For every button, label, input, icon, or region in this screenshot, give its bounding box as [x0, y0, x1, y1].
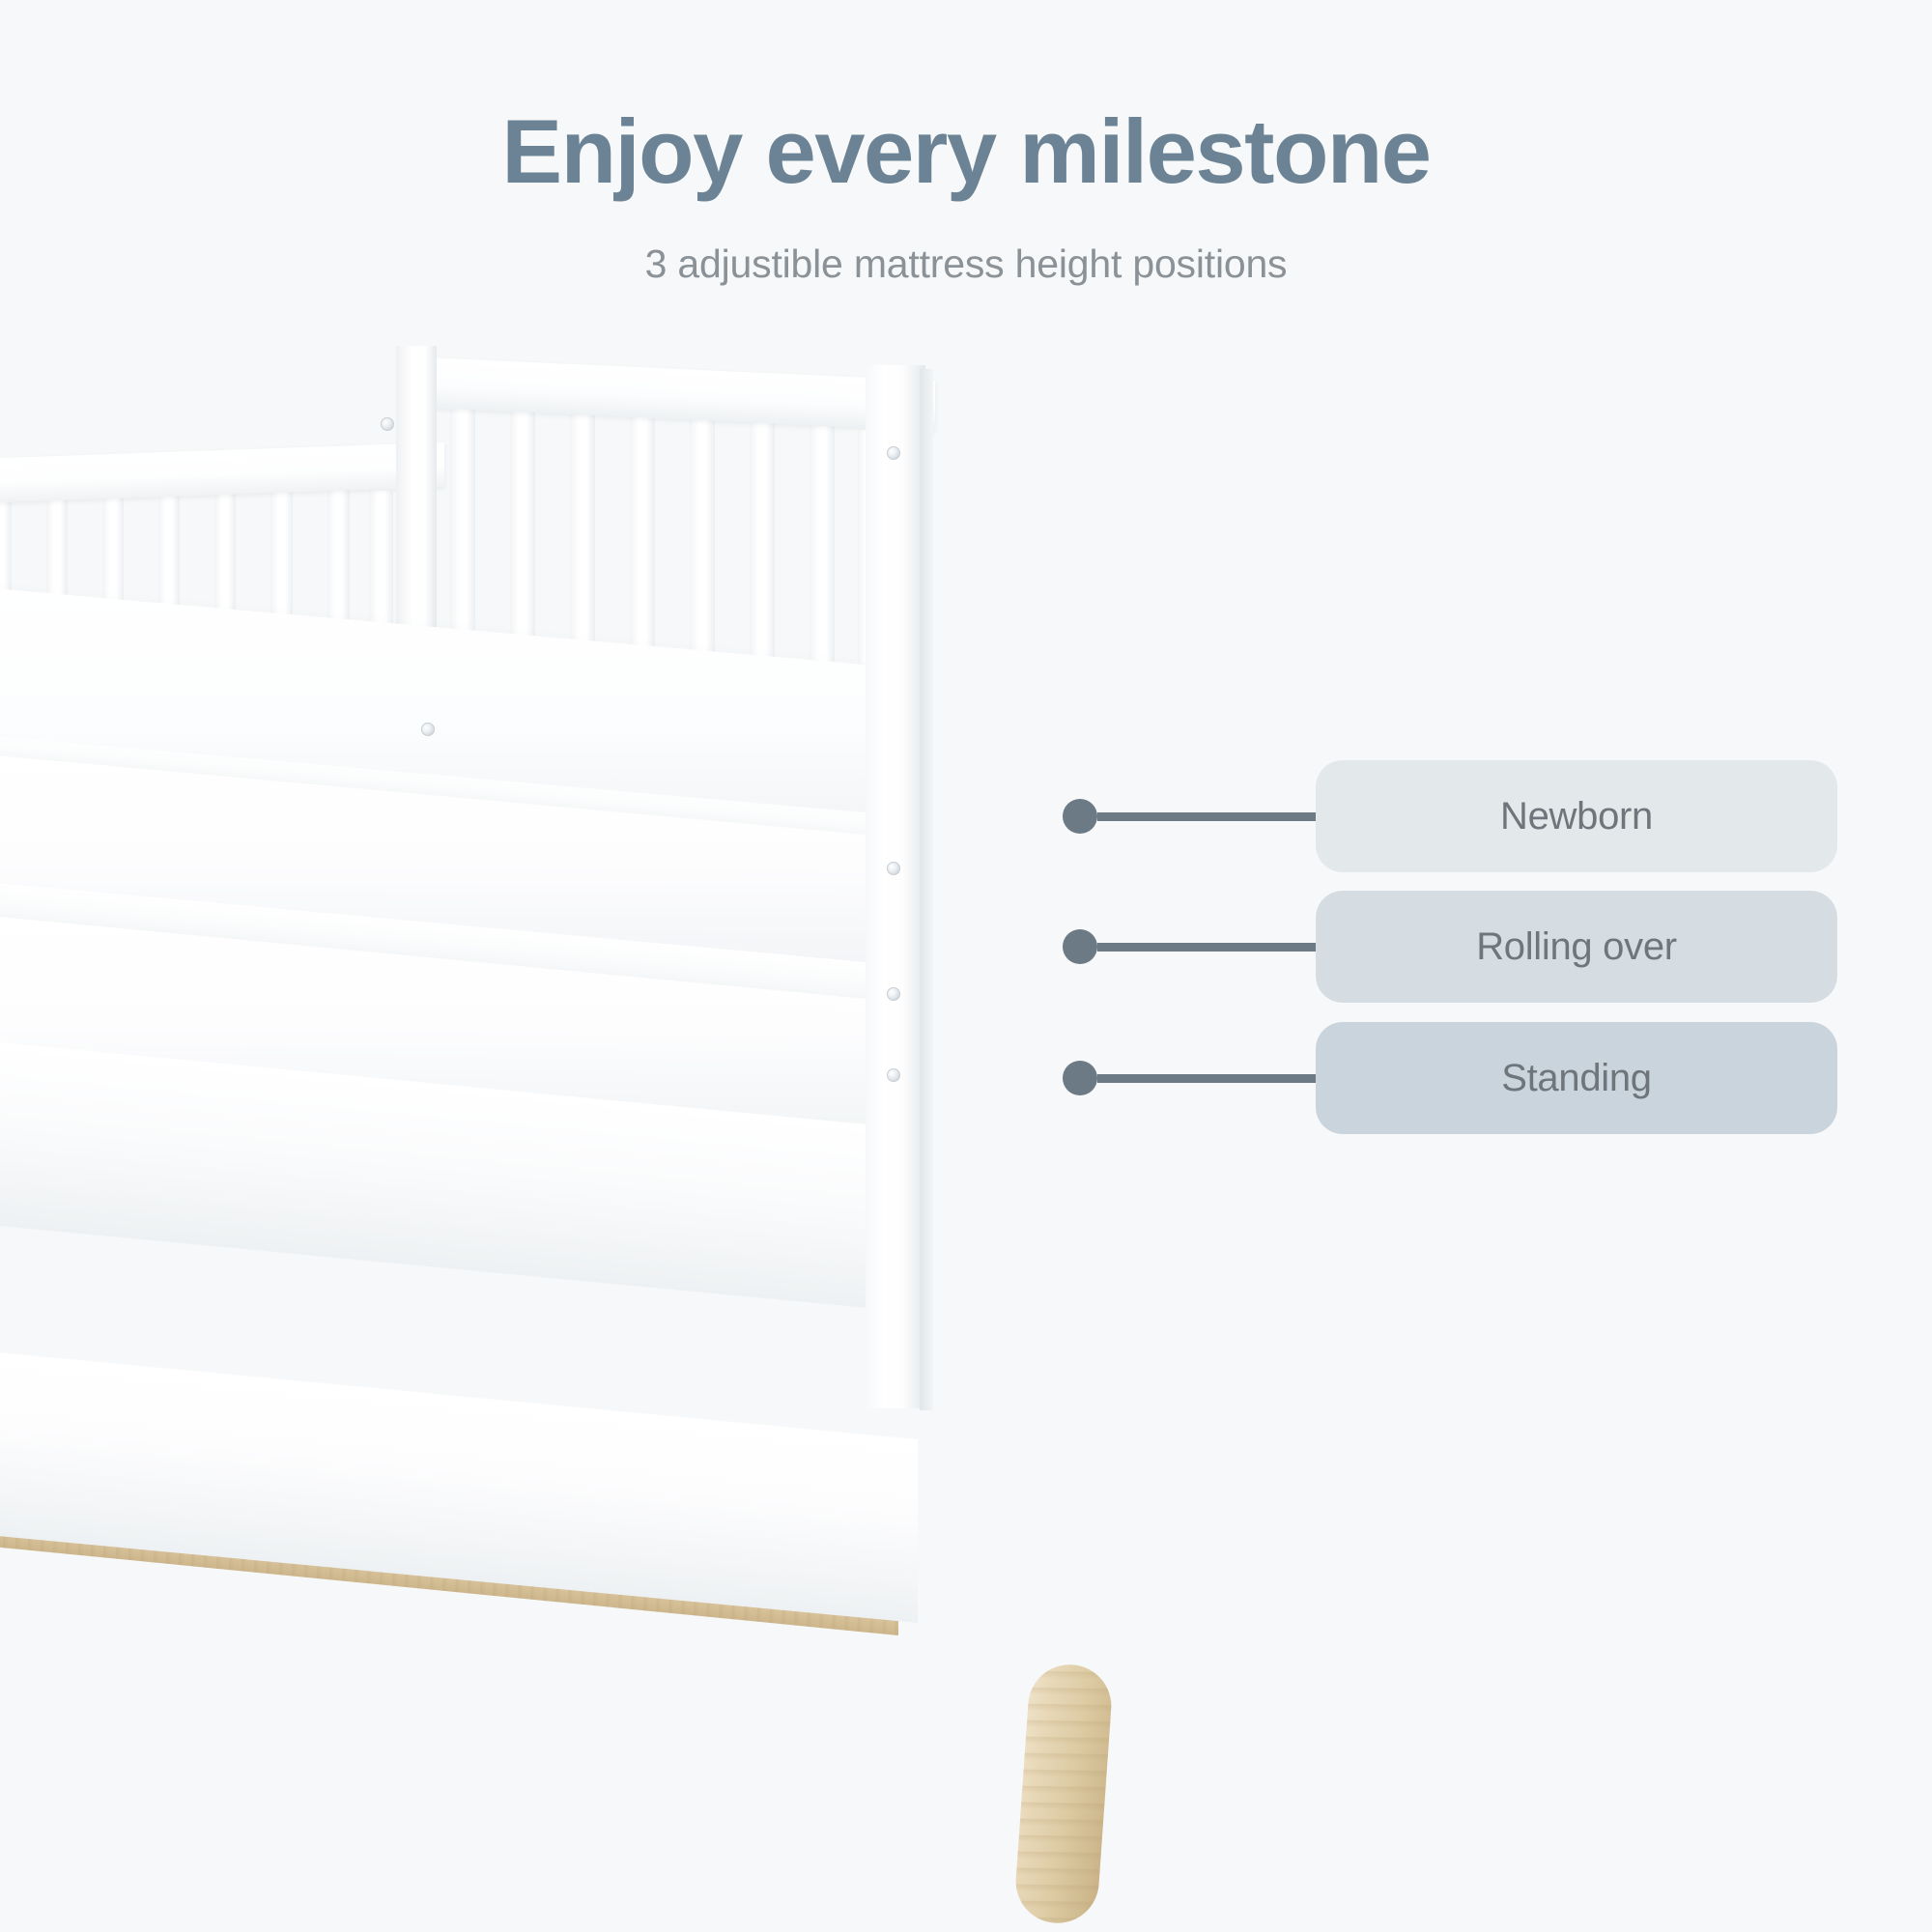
screw-hole	[421, 723, 435, 736]
product-image	[0, 290, 1217, 1932]
crib-top-rail-right	[423, 357, 935, 431]
screw-hole	[887, 446, 900, 460]
callout-leader-line	[1097, 1074, 1316, 1083]
screw-hole	[887, 1068, 900, 1082]
callout-pill-newborn[interactable]: Newborn	[1316, 760, 1837, 872]
screw-hole	[887, 862, 900, 875]
screw-hole	[887, 987, 900, 1001]
callout-rolling-over: Rolling over	[1063, 891, 1837, 1003]
callout-pill-rolling-over[interactable]: Rolling over	[1316, 891, 1837, 1003]
callout-dot-icon	[1063, 1061, 1097, 1095]
callout-leader-line	[1097, 943, 1316, 952]
callout-newborn: Newborn	[1063, 760, 1837, 872]
callout-pill-standing[interactable]: Standing	[1316, 1022, 1837, 1134]
crib-right-post	[866, 365, 925, 1408]
crib-right-post-edge	[920, 369, 933, 1410]
callout-leader-line	[1097, 812, 1316, 821]
callout-dot-icon	[1063, 799, 1097, 834]
callout-group: Newborn Rolling over Standing	[1043, 0, 1932, 1932]
callout-dot-icon	[1063, 929, 1097, 964]
callout-standing: Standing	[1063, 1022, 1837, 1134]
screw-hole	[381, 417, 394, 431]
